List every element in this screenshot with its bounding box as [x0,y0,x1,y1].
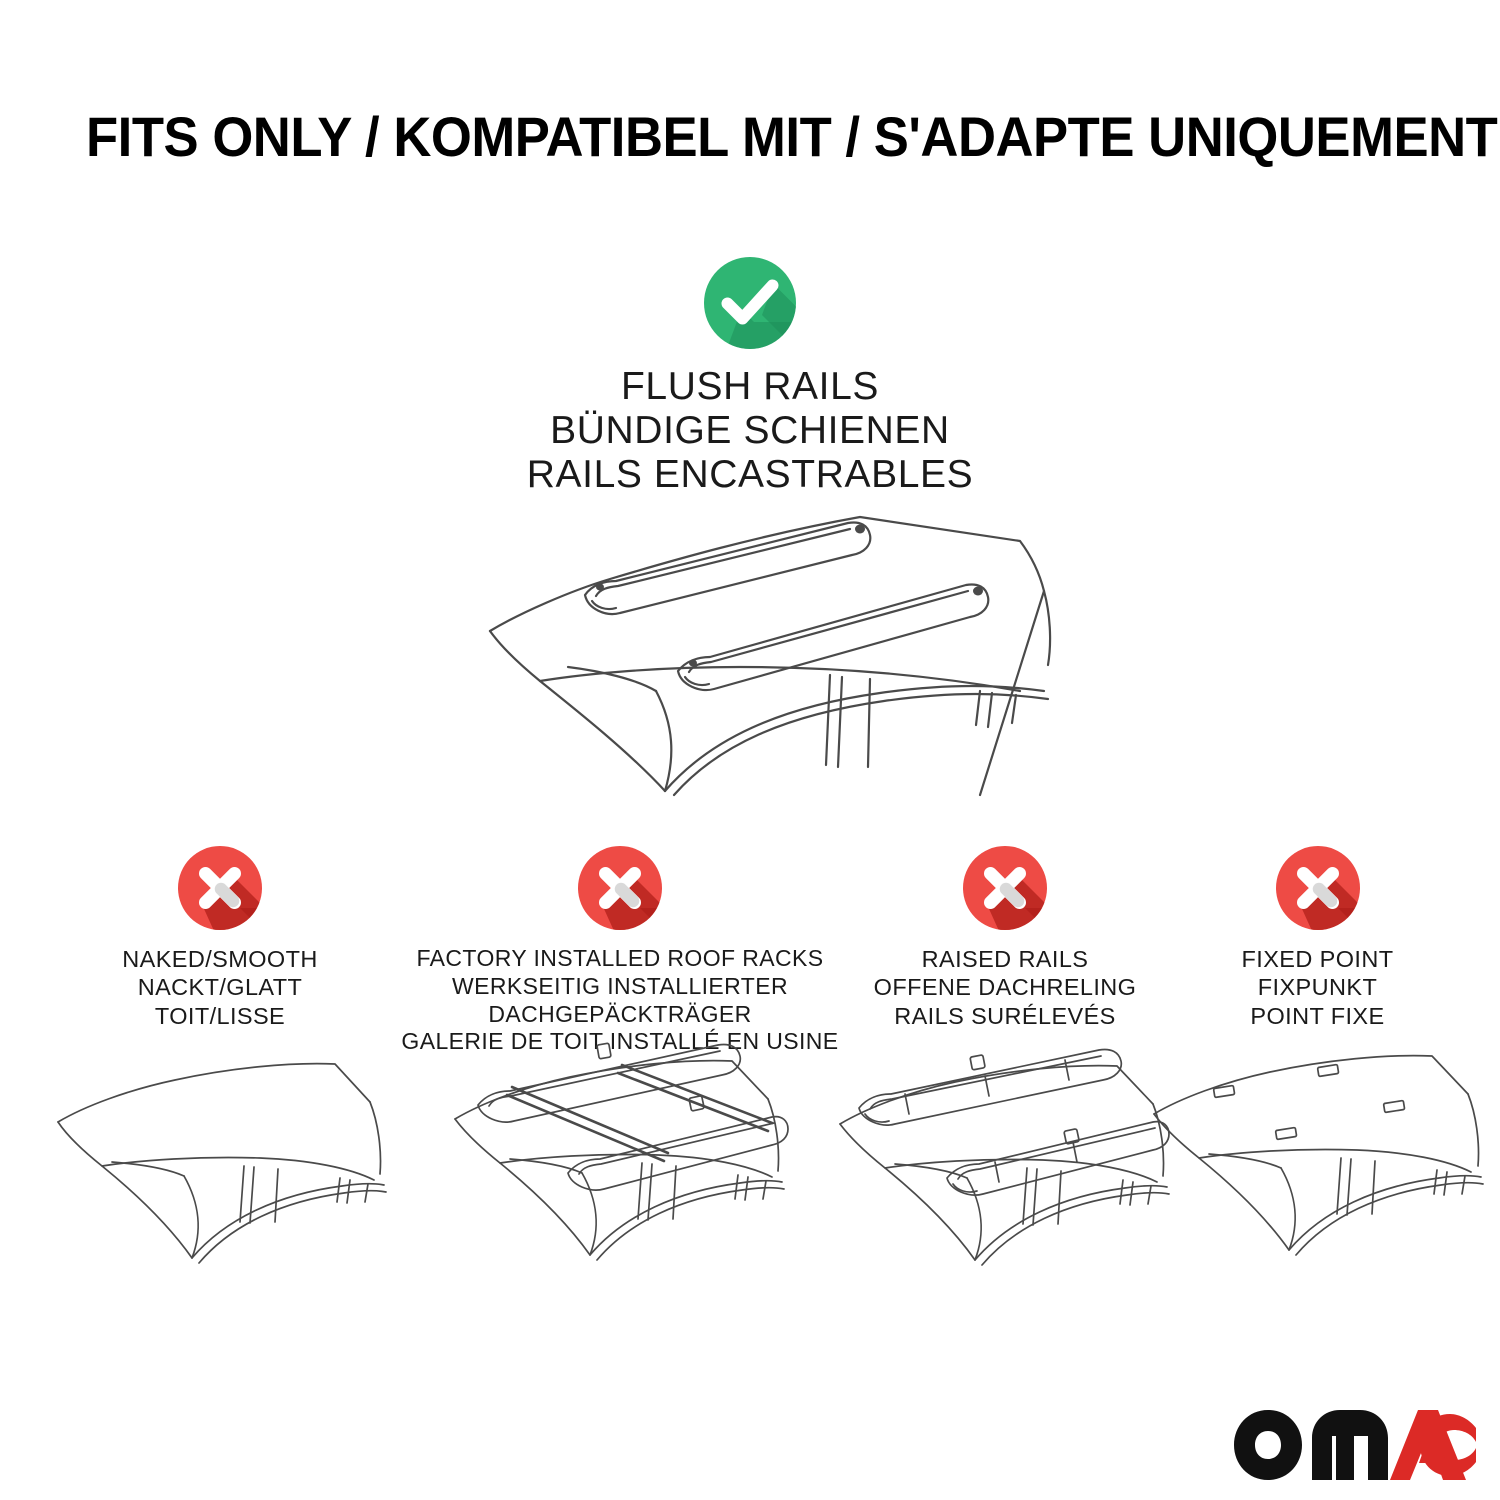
cross-circle-icon [577,845,663,931]
option-label-line-de: OFFENE DACHRELING [845,973,1165,1001]
compatible-section: FLUSH RAILS BÜNDIGE SCHIENEN RAILS ENCAS… [0,255,1500,497]
option-label-line-de: FIXPUNKT [1175,973,1460,1001]
car-roof-raised-rails-illustration [835,1050,1175,1280]
incompatible-option-raised-rails: RAISED RAILS OFFENE DACHRELING RAILS SUR… [845,845,1165,1030]
incompatible-option-naked-smooth: NAKED/SMOOTH NACKT/GLATT TOIT/LISSE [55,845,385,1030]
option-label-line-en: FIXED POINT [1175,945,1460,973]
cross-circle-icon [962,845,1048,931]
logo-letter-o [1234,1410,1302,1480]
option-label-line-fr: RAILS SURÉLEVÉS [845,1002,1165,1030]
option-label-line-fr: POINT FIXE [1175,1002,1460,1030]
option-label-line-en: RAISED RAILS [845,945,1165,973]
logo-letter-m [1312,1410,1388,1480]
incompatible-option-factory-roof-racks: FACTORY INSTALLED ROOF RACKS WERKSEITIG … [400,845,840,1056]
option-label-line-de-1: WERKSEITIG INSTALLIERTER [400,973,840,1001]
incompatible-option-fixed-point: FIXED POINT FIXPUNKT POINT FIXE [1175,845,1460,1030]
compatible-label-line-fr: RAILS ENCASTRABLES [0,453,1500,497]
compatible-label-line-de: BÜNDIGE SCHIENEN [0,409,1500,453]
option-label-line-de: NACKT/GLATT [55,973,385,1001]
car-roof-naked-smooth-illustration [50,1050,390,1280]
compatible-label-line-en: FLUSH RAILS [0,365,1500,409]
page-title: FITS ONLY / KOMPATIBEL MIT / S'ADAPTE UN… [86,108,1346,167]
compatible-label: FLUSH RAILS BÜNDIGE SCHIENEN RAILS ENCAS… [0,365,1500,497]
option-label-line-en: FACTORY INSTALLED ROOF RACKS [400,945,840,973]
check-circle-icon [702,255,798,351]
option-label: FIXED POINT FIXPUNKT POINT FIXE [1175,945,1460,1030]
option-label-line-de-2: DACHGEPÄCKTRÄGER [400,1001,840,1029]
car-roof-fixed-point-illustration [1148,1050,1488,1280]
option-label: RAISED RAILS OFFENE DACHRELING RAILS SUR… [845,945,1165,1030]
option-label: NAKED/SMOOTH NACKT/GLATT TOIT/LISSE [55,945,385,1030]
cross-circle-icon [1275,845,1361,931]
incompatible-section: NAKED/SMOOTH NACKT/GLATT TOIT/LISSE [0,845,1500,1465]
omac-logo [1232,1408,1480,1482]
car-roof-flush-rails-illustration [460,495,1060,795]
option-label-line-en: NAKED/SMOOTH [55,945,385,973]
cross-circle-icon [177,845,263,931]
car-roof-factory-roof-racks-illustration [450,1043,790,1273]
option-label-line-fr: TOIT/LISSE [55,1002,385,1030]
option-label: FACTORY INSTALLED ROOF RACKS WERKSEITIG … [400,945,840,1056]
